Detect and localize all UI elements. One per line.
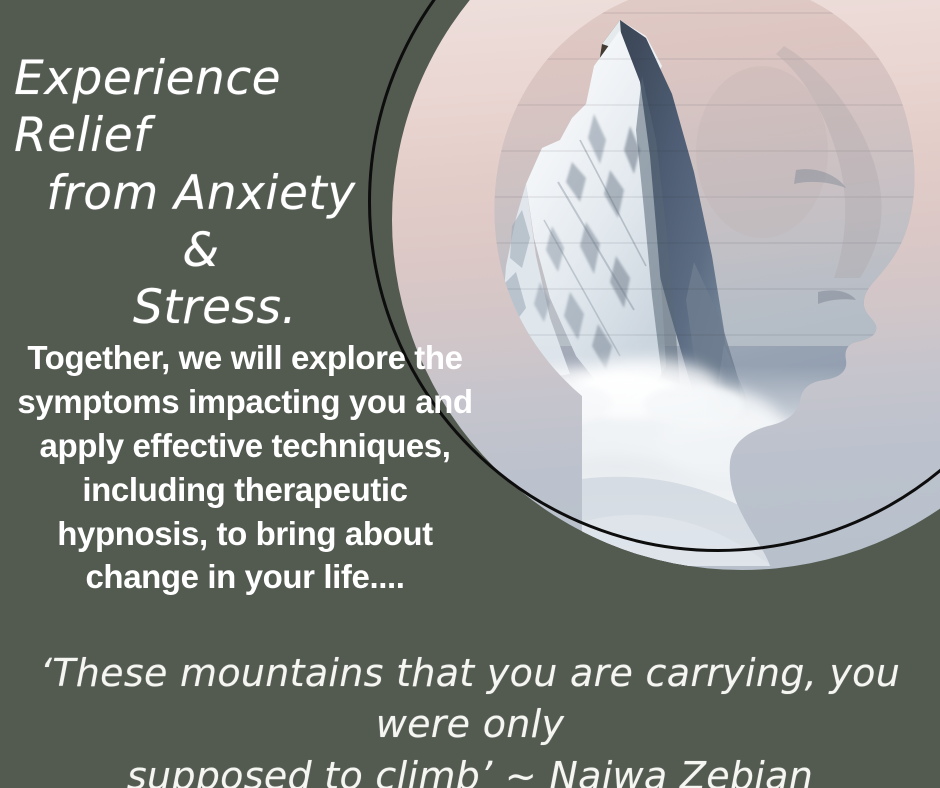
body-paragraph: Together, we will explore the symptoms i… bbox=[14, 336, 476, 599]
headline-line-1: Experience Relief bbox=[6, 50, 378, 165]
page-title: Experience Relief from Anxiety & Stress. bbox=[6, 50, 378, 337]
quote-line-1: ‘These mountains that you are carrying, … bbox=[28, 648, 912, 751]
quote-line-2: supposed to climb’ ~ Najwa Zebian bbox=[28, 751, 912, 788]
quote-block: ‘These mountains that you are carrying, … bbox=[28, 648, 912, 788]
headline-line-3: Stress. bbox=[6, 279, 378, 336]
headline-line-2: from Anxiety & bbox=[6, 165, 378, 280]
poster-canvas: Experience Relief from Anxiety & Stress.… bbox=[0, 0, 940, 788]
